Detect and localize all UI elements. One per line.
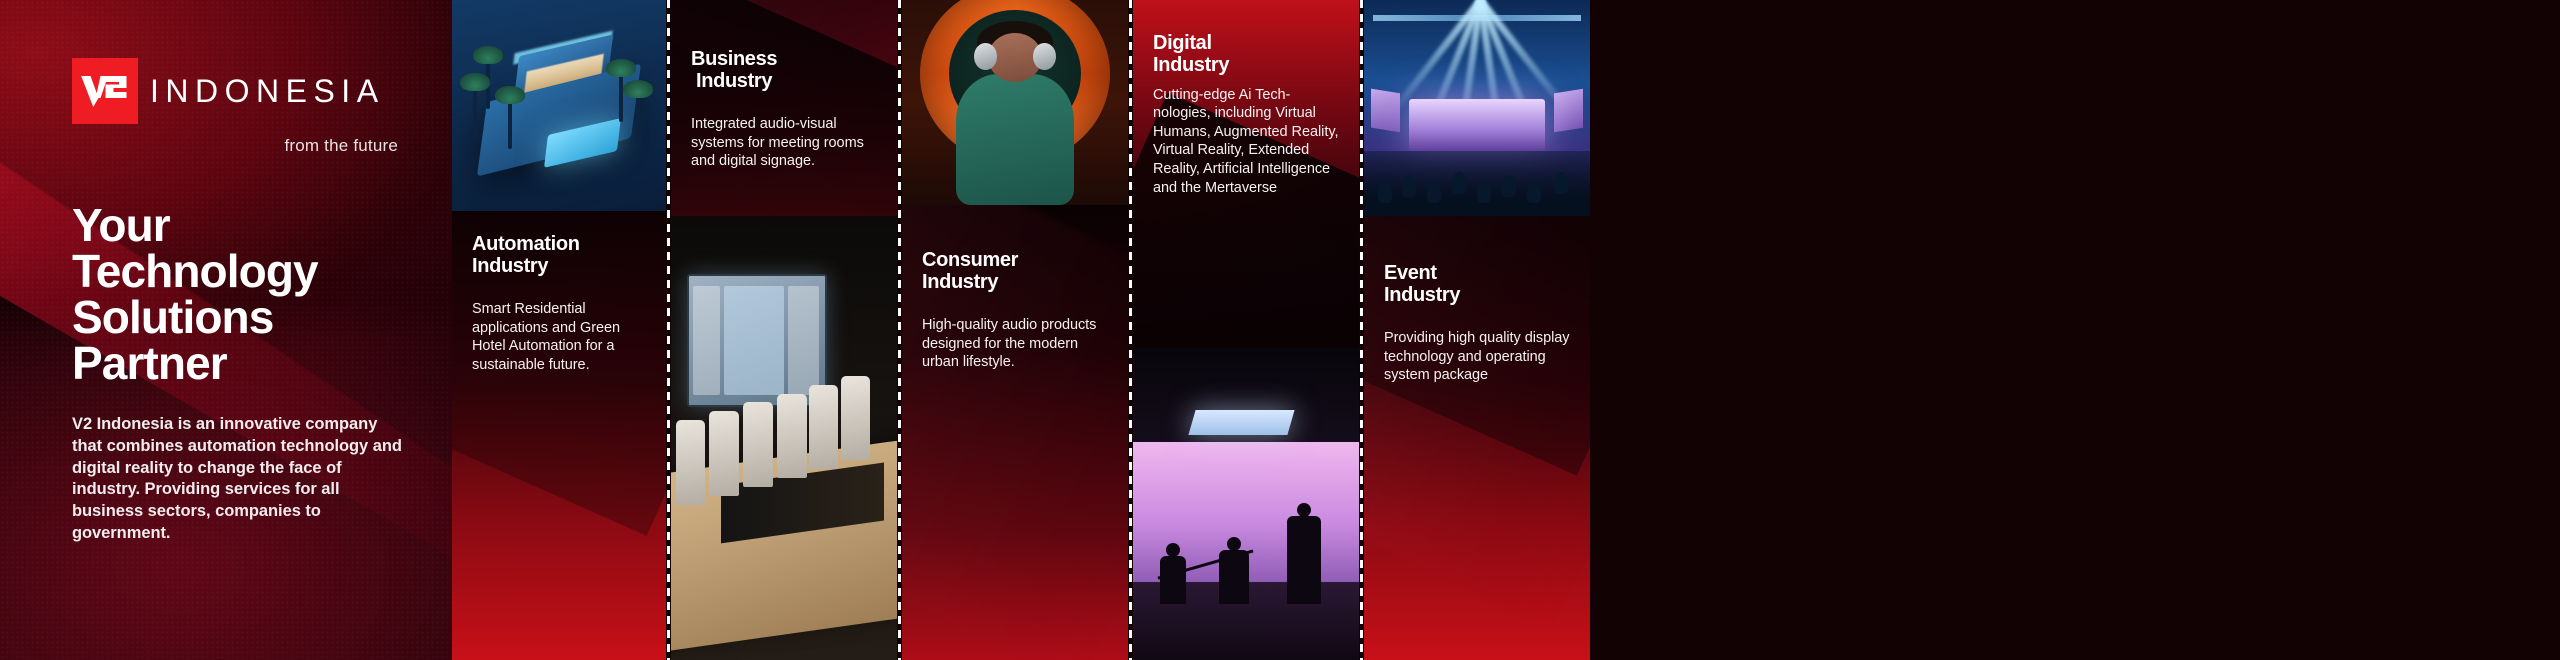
page-title-line-2: Solutions Partner — [72, 294, 408, 386]
digital-title-line-1: Digital — [1153, 32, 1339, 54]
industry-card-event[interactable]: Event Industry Providing high quality di… — [1364, 0, 1590, 660]
industry-card-business[interactable]: Business Industry Integrated audio-visua… — [671, 0, 897, 660]
business-title-line-1: Business — [691, 48, 877, 70]
hero-description: V2 Indonesia is an innovative company th… — [72, 414, 402, 545]
boardroom-av-system-image — [671, 216, 897, 660]
page-title-line-1: Your Technology — [72, 202, 408, 294]
consumer-title-line-2: Industry — [922, 271, 1108, 293]
digital-text-block: Digital Industry Cutting-edge Ai Tech-no… — [1133, 0, 1359, 348]
logo-wordmark: INDONESIA — [150, 75, 385, 107]
logo-tagline: from the future — [72, 136, 408, 156]
event-text-block: Event Industry Providing high quality di… — [1364, 216, 1590, 660]
industry-columns: Automation Industry Smart Residential ap… — [452, 0, 2560, 660]
event-title-line-2: Industry — [1384, 284, 1570, 306]
event-title: Event Industry — [1384, 262, 1570, 307]
digital-description: Cutting-edge Ai Tech-nologies, including… — [1153, 86, 1339, 197]
hero-panel: INDONESIA from the future Your Technolog… — [0, 0, 452, 660]
business-title-line-2: Industry — [691, 70, 877, 92]
v2-logo-mark-icon — [72, 58, 138, 124]
consumer-title-line-1: Consumer — [922, 249, 1108, 271]
automation-description: Smart Residential applications and Green… — [472, 300, 646, 375]
woman-with-headphones-image — [902, 0, 1128, 205]
consumer-description: High-quality audio products designed for… — [922, 316, 1108, 373]
automation-title-line-1: Automation — [472, 233, 646, 255]
industry-card-digital[interactable]: Digital Industry Cutting-edge Ai Tech-no… — [1133, 0, 1359, 660]
v2-indonesia-banner: INDONESIA from the future Your Technolog… — [0, 0, 2560, 660]
business-title: Business Industry — [691, 48, 877, 93]
automation-title-line-2: Industry — [472, 255, 646, 277]
hero-content: INDONESIA from the future Your Technolog… — [0, 0, 452, 660]
business-description: Integrated audio-visual systems for meet… — [691, 115, 877, 172]
virtual-production-studio-image — [1133, 348, 1359, 660]
automation-text-block: Automation Industry Smart Residential ap… — [452, 211, 666, 660]
digital-title-line-2: Industry — [1153, 54, 1339, 76]
industry-card-automation[interactable]: Automation Industry Smart Residential ap… — [452, 0, 666, 660]
automation-title: Automation Industry — [472, 233, 646, 278]
column-divider-4 — [1359, 0, 1364, 660]
column-divider-2 — [897, 0, 902, 660]
concert-stage-lighting-crowd-image — [1364, 0, 1590, 216]
smart-residential-isometric-house-image — [452, 0, 666, 211]
page-title: Your Technology Solutions Partner — [72, 202, 408, 386]
column-divider-3 — [1128, 0, 1133, 660]
logo-lockup: INDONESIA — [72, 58, 408, 124]
digital-title: Digital Industry — [1153, 32, 1339, 77]
event-description: Providing high quality display technolog… — [1384, 329, 1570, 386]
consumer-title: Consumer Industry — [922, 249, 1108, 294]
business-text-block: Business Industry Integrated audio-visua… — [671, 0, 897, 216]
column-divider-1 — [666, 0, 671, 660]
event-title-line-1: Event — [1384, 262, 1570, 284]
consumer-text-block: Consumer Industry High-quality audio pro… — [902, 205, 1128, 660]
industry-card-consumer[interactable]: Consumer Industry High-quality audio pro… — [902, 0, 1128, 660]
